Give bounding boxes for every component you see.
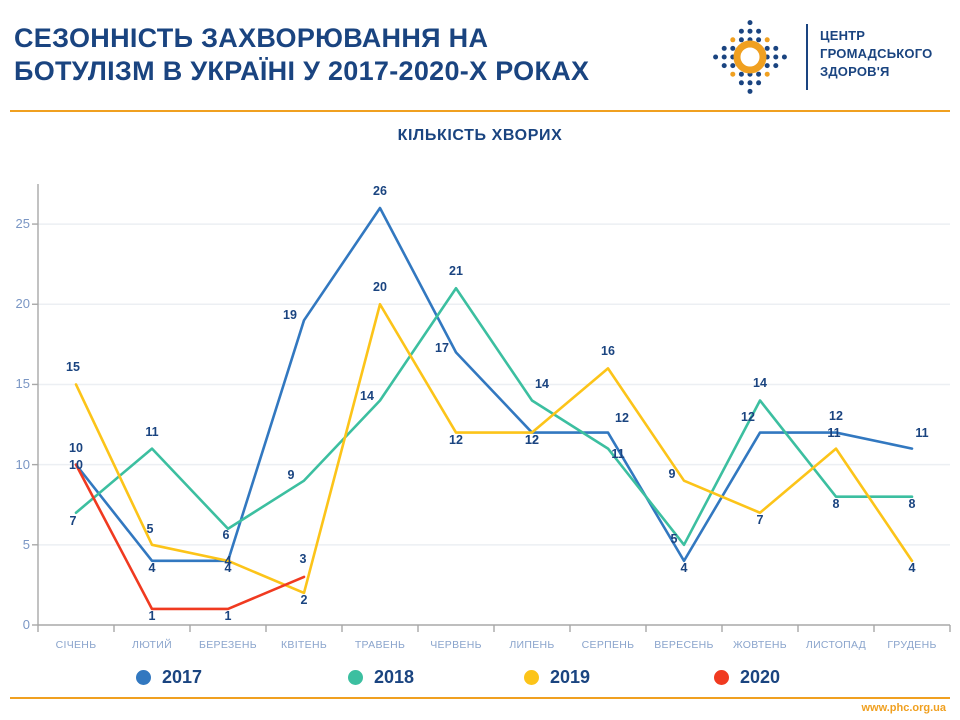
logo-text: ЦЕНТР ГРОМАДСЬКОГО ЗДОРОВ'Я [820, 27, 932, 81]
logo-text-line-1: ЦЕНТР [820, 27, 932, 45]
x-axis-tick-січень: СІЧЕНЬ [38, 639, 114, 651]
data-label-2017-листопад: 12 [821, 409, 851, 423]
data-label-2017-лютий: 4 [137, 561, 167, 575]
data-label-2018-вересень: 5 [659, 532, 689, 546]
data-label-2019-грудень: 4 [897, 561, 927, 575]
data-label-2020-березень: 1 [213, 609, 243, 623]
data-label-2017-травень: 26 [365, 184, 395, 198]
data-label-2018-лютий: 11 [137, 425, 167, 439]
organization-logo: ЦЕНТР ГРОМАДСЬКОГО ЗДОРОВ'Я [706, 16, 946, 98]
logo-text-line-2: ГРОМАДСЬКОГО [820, 45, 932, 63]
x-axis-tick-листопад: ЛИСТОПАД [798, 639, 874, 651]
data-label-2019-травень: 20 [365, 280, 395, 294]
footer-url: www.phc.org.ua [861, 702, 946, 714]
x-axis-tick-червень: ЧЕРВЕНЬ [418, 639, 494, 651]
data-label-2017-квітень: 19 [275, 308, 305, 322]
data-label-2019-листопад: 11 [819, 426, 849, 440]
data-label-2017-червень: 17 [427, 341, 457, 355]
data-label-2018-жовтень: 14 [745, 376, 775, 390]
data-label-2019-квітень: 2 [289, 593, 319, 607]
legend-item-2017[interactable]: 2017 [136, 662, 202, 692]
chart-axes [32, 184, 950, 632]
y-axis-tick-20: 20 [4, 296, 30, 311]
x-axis-tick-серпень: СЕРПЕНЬ [570, 639, 646, 651]
data-label-2019-липень: 12 [517, 433, 547, 447]
chart-series-lines [76, 208, 912, 609]
legend-color-swatch-2017 [136, 670, 151, 685]
page-title: СЕЗОННІСТЬ ЗАХВОРЮВАННЯ НА БОТУЛІЗМ В УК… [14, 22, 704, 88]
legend-item-2019[interactable]: 2019 [524, 662, 590, 692]
data-label-2019-січень: 15 [58, 360, 88, 374]
data-label-2018-червень: 21 [441, 264, 471, 278]
logo-divider [806, 24, 808, 90]
data-label-2018-серпень: 11 [603, 447, 633, 461]
x-axis-tick-березень: БЕРЕЗЕНЬ [190, 639, 266, 651]
legend-label-2018: 2018 [374, 667, 414, 688]
x-axis-tick-лютий: ЛЮТИЙ [114, 639, 190, 651]
data-label-2017-жовтень: 12 [733, 410, 763, 424]
y-axis-tick-25: 25 [4, 216, 30, 231]
legend-color-swatch-2020 [714, 670, 729, 685]
data-label-2018-липень: 14 [527, 377, 557, 391]
y-axis-tick-0: 0 [4, 617, 30, 632]
data-label-2018-грудень: 8 [897, 497, 927, 511]
legend-label-2019: 2019 [550, 667, 590, 688]
data-label-2017-січень: 10 [61, 441, 91, 455]
data-label-2017-грудень: 11 [907, 426, 937, 440]
chart-legend: 2017201820192020 [0, 662, 960, 696]
data-label-2018-березень: 6 [211, 528, 241, 542]
x-axis-tick-грудень: ГРУДЕНЬ [874, 639, 950, 651]
page-title-line-1: СЕЗОННІСТЬ ЗАХВОРЮВАННЯ НА [14, 22, 704, 55]
data-label-2018-листопад: 8 [821, 497, 851, 511]
data-label-2018-квітень: 9 [276, 468, 306, 482]
logo-text-line-3: ЗДОРОВ'Я [820, 63, 932, 81]
series-line-2020 [76, 465, 304, 609]
data-label-2019-червень: 12 [441, 433, 471, 447]
data-label-2019-лютий: 5 [135, 522, 165, 536]
phc-logo-icon [706, 16, 794, 98]
legend-item-2020[interactable]: 2020 [714, 662, 780, 692]
data-label-2020-квітень: 3 [288, 552, 318, 566]
y-axis-tick-15: 15 [4, 376, 30, 391]
data-label-2017-вересень: 4 [669, 561, 699, 575]
data-label-2017-серпень: 12 [607, 411, 637, 425]
x-axis-tick-жовтень: ЖОВТЕНЬ [722, 639, 798, 651]
data-label-2019-серпень: 16 [593, 344, 623, 358]
page-header: СЕЗОННІСТЬ ЗАХВОРЮВАННЯ НА БОТУЛІЗМ В УК… [0, 0, 960, 112]
chart-canvas [0, 160, 960, 660]
data-label-2019-березень: 4 [213, 554, 243, 568]
page-title-line-2: БОТУЛІЗМ В УКРАЇНІ У 2017-2020-Х РОКАХ [14, 55, 704, 88]
data-label-2020-лютий: 1 [137, 609, 167, 623]
legend-color-swatch-2018 [348, 670, 363, 685]
legend-label-2017: 2017 [162, 667, 202, 688]
data-label-2020-січень: 10 [61, 458, 91, 472]
legend-item-2018[interactable]: 2018 [348, 662, 414, 692]
x-axis-tick-квітень: КВІТЕНЬ [266, 639, 342, 651]
y-axis-tick-5: 5 [4, 537, 30, 552]
chart-title: КІЛЬКІСТЬ ХВОРИХ [0, 127, 960, 145]
legend-color-swatch-2019 [524, 670, 539, 685]
footer-divider-rule [10, 697, 950, 699]
data-label-2018-травень: 14 [352, 389, 382, 403]
data-label-2019-вересень: 9 [657, 467, 687, 481]
header-divider-rule [10, 110, 950, 112]
x-axis-tick-липень: ЛИПЕНЬ [494, 639, 570, 651]
x-axis-tick-травень: ТРАВЕНЬ [342, 639, 418, 651]
x-axis-tick-вересень: ВЕРЕСЕНЬ [646, 639, 722, 651]
data-label-2019-жовтень: 7 [745, 513, 775, 527]
series-line-2019 [76, 304, 912, 593]
line-chart: 0510152025 СІЧЕНЬЛЮТИЙБЕРЕЗЕНЬКВІТЕНЬТРА… [0, 160, 960, 660]
legend-label-2020: 2020 [740, 667, 780, 688]
y-axis-tick-10: 10 [4, 457, 30, 472]
series-line-2018 [76, 288, 912, 545]
chart-gridlines [38, 224, 950, 545]
data-label-2018-січень: 7 [58, 514, 88, 528]
